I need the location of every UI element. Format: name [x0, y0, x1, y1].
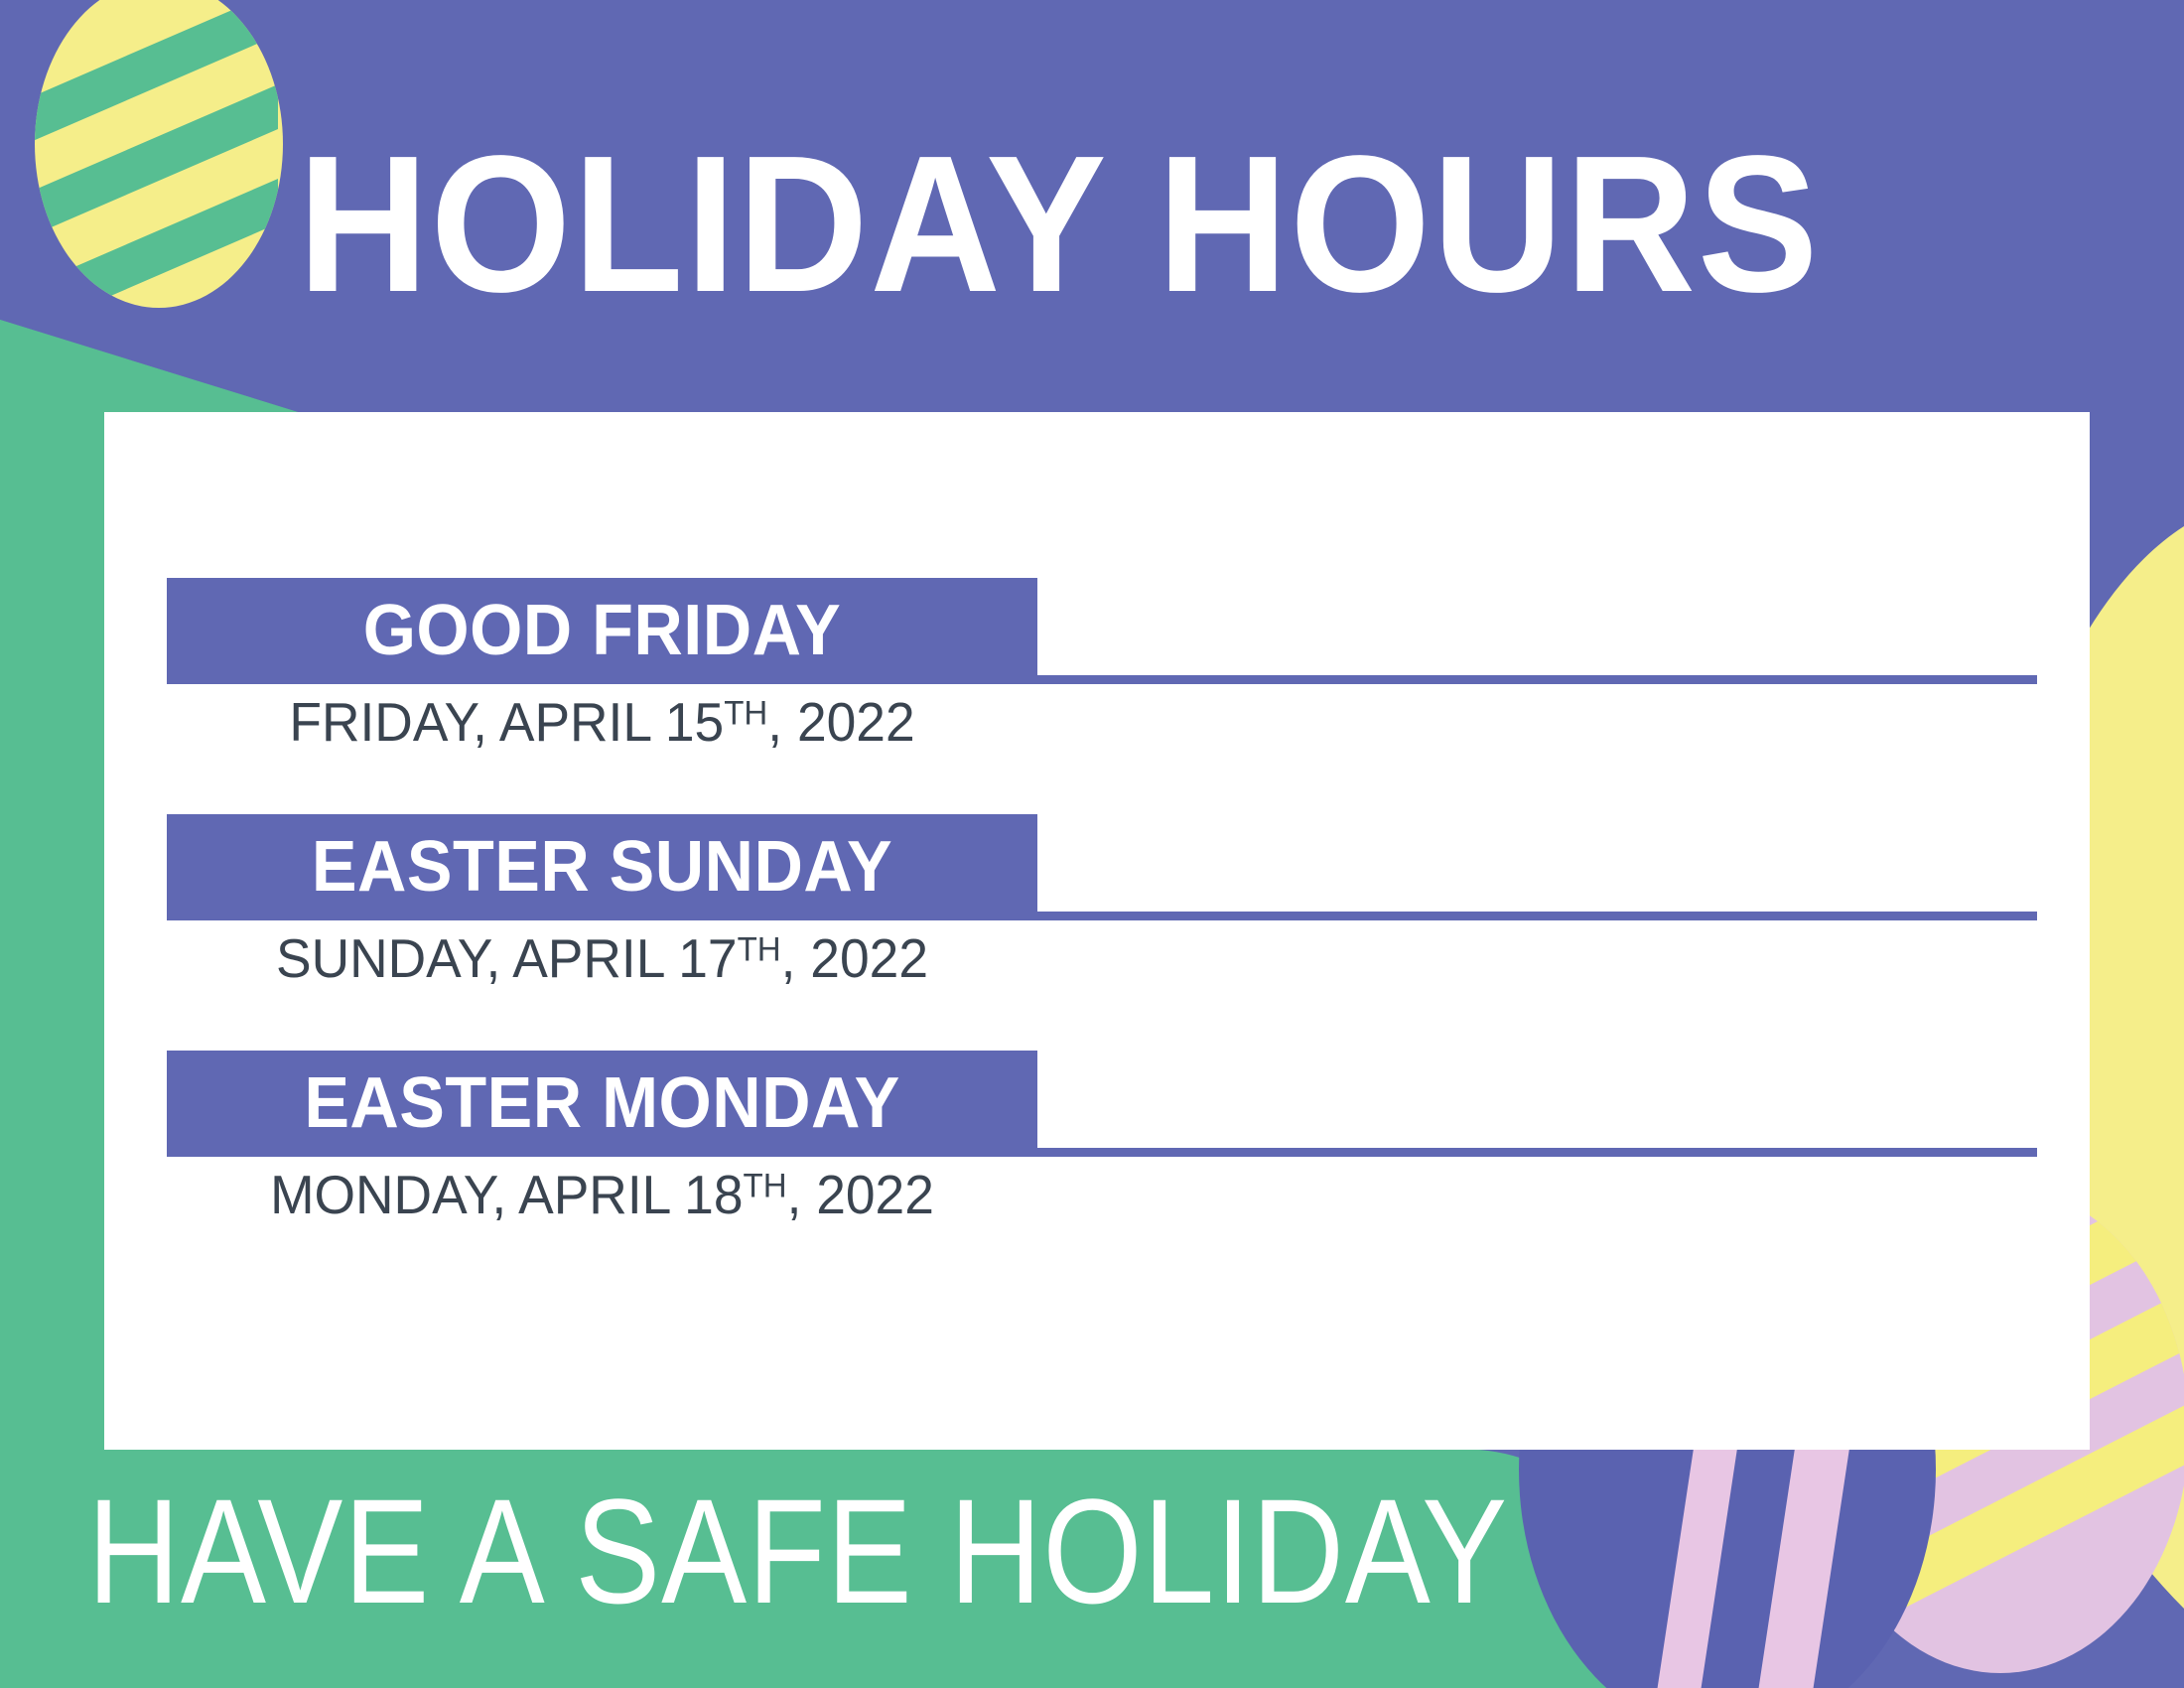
holiday-date-suffix: , 2022: [787, 1164, 934, 1225]
holiday-name-bar: EASTER SUNDAY: [167, 814, 1037, 920]
holiday-name-label: EASTER SUNDAY: [189, 814, 1016, 920]
holiday-date-suffix: , 2022: [767, 691, 914, 753]
holiday-date-label: SUNDAY, APRIL 17TH, 2022: [180, 927, 1024, 989]
holiday-name-bar: GOOD FRIDAY: [167, 578, 1037, 684]
holiday-hours-poster: HOLIDAY HOURS GOOD FRIDAY FRIDAY, APRIL …: [0, 0, 2184, 1688]
holiday-name-label: EASTER MONDAY: [189, 1051, 1016, 1157]
hours-card: GOOD FRIDAY FRIDAY, APRIL 15TH, 2022 EAS…: [104, 412, 2090, 1450]
hours-write-in-line[interactable]: [1037, 912, 2037, 920]
hours-write-in-line[interactable]: [1037, 675, 2037, 684]
holiday-date-label: MONDAY, APRIL 18TH, 2022: [180, 1164, 1024, 1225]
holiday-name-label: GOOD FRIDAY: [189, 578, 1016, 684]
holiday-date-ordinal: TH: [743, 1168, 786, 1205]
holiday-date-prefix: FRIDAY, APRIL 15: [289, 691, 724, 753]
holiday-name-bar: EASTER MONDAY: [167, 1051, 1037, 1157]
holiday-date-label: FRIDAY, APRIL 15TH, 2022: [180, 691, 1024, 753]
page-title: HOLIDAY HOURS: [298, 127, 1867, 326]
holiday-date-prefix: MONDAY, APRIL 18: [270, 1164, 743, 1225]
footer-message: HAVE A SAFE HOLIDAY: [87, 1472, 1539, 1640]
holiday-date-ordinal: TH: [738, 931, 781, 969]
holiday-date-suffix: , 2022: [781, 927, 928, 989]
holiday-date-prefix: SUNDAY, APRIL 17: [276, 927, 738, 989]
holiday-date-ordinal: TH: [724, 695, 767, 733]
hours-write-in-line[interactable]: [1037, 1148, 2037, 1157]
